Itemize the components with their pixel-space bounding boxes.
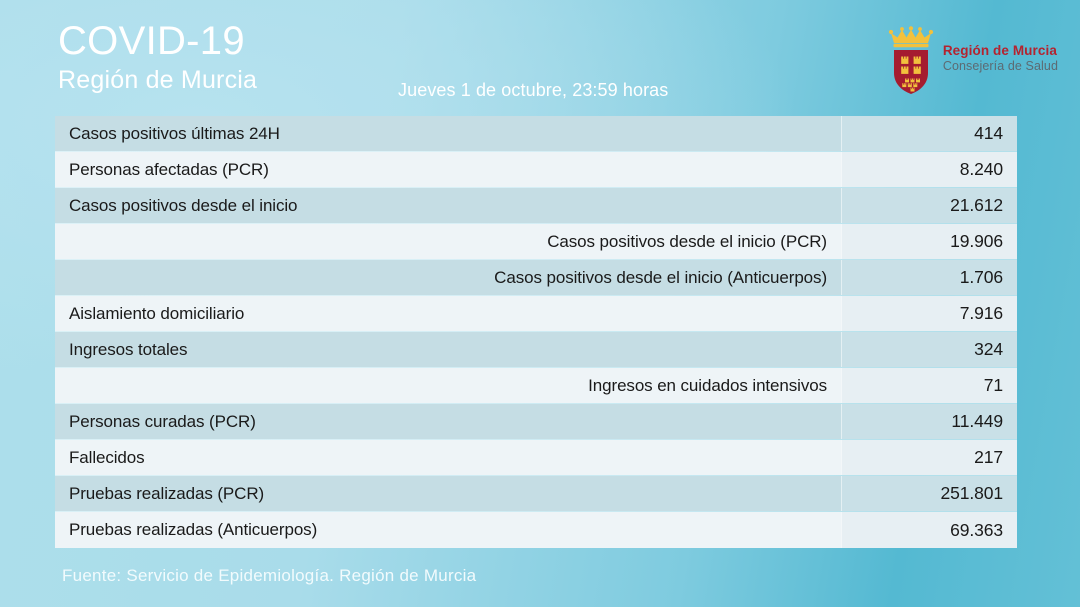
row-value: 11.449 <box>841 404 1017 439</box>
row-value: 7.916 <box>841 296 1017 331</box>
title-block: COVID-19 Región de Murcia <box>58 18 257 95</box>
table-row: Casos positivos desde el inicio21.612 <box>55 188 1017 224</box>
row-label: Personas curadas (PCR) <box>55 404 841 439</box>
table-row: Personas afectadas (PCR)8.240 <box>55 152 1017 188</box>
row-label: Ingresos totales <box>55 332 841 367</box>
row-value: 217 <box>841 440 1017 475</box>
logo-department: Consejería de Salud <box>943 59 1058 74</box>
page-subtitle: Región de Murcia <box>58 65 257 95</box>
row-value: 414 <box>841 116 1017 151</box>
table-row: Pruebas realizadas (Anticuerpos)69.363 <box>55 512 1017 548</box>
logo-organization: Región de Murcia <box>943 43 1058 59</box>
row-value: 1.706 <box>841 260 1017 295</box>
row-value: 251.801 <box>841 476 1017 511</box>
row-value: 19.906 <box>841 224 1017 259</box>
table-row: Casos positivos desde el inicio (PCR)19.… <box>55 224 1017 260</box>
covid-stats-slide: COVID-19 Región de Murcia Jueves 1 de oc… <box>0 0 1080 607</box>
table-row: Casos positivos últimas 24H414 <box>55 116 1017 152</box>
row-label: Pruebas realizadas (Anticuerpos) <box>55 512 841 548</box>
row-label: Aislamiento domiciliario <box>55 296 841 331</box>
row-value: 324 <box>841 332 1017 367</box>
table-row: Fallecidos217 <box>55 440 1017 476</box>
row-value: 69.363 <box>841 512 1017 548</box>
shield-icon <box>888 26 934 96</box>
table-row: Pruebas realizadas (PCR)251.801 <box>55 476 1017 512</box>
row-label: Ingresos en cuidados intensivos <box>55 368 841 403</box>
table-row: Personas curadas (PCR)11.449 <box>55 404 1017 440</box>
row-label: Casos positivos desde el inicio (PCR) <box>55 224 841 259</box>
row-value: 8.240 <box>841 152 1017 187</box>
row-label: Personas afectadas (PCR) <box>55 152 841 187</box>
table-row: Ingresos totales324 <box>55 332 1017 368</box>
row-label: Casos positivos desde el inicio (Anticue… <box>55 260 841 295</box>
row-label: Pruebas realizadas (PCR) <box>55 476 841 511</box>
page-title: COVID-19 <box>58 18 257 64</box>
logo-text: Región de Murcia Consejería de Salud <box>943 43 1058 80</box>
row-label: Fallecidos <box>55 440 841 475</box>
source-footer: Fuente: Servicio de Epidemiología. Regió… <box>62 566 476 586</box>
statistics-table: Casos positivos últimas 24H414Personas a… <box>55 116 1017 548</box>
row-label: Casos positivos desde el inicio <box>55 188 841 223</box>
row-label: Casos positivos últimas 24H <box>55 116 841 151</box>
region-de-murcia-logo: Región de Murcia Consejería de Salud <box>888 24 1058 98</box>
row-value: 21.612 <box>841 188 1017 223</box>
table-row: Casos positivos desde el inicio (Anticue… <box>55 260 1017 296</box>
table-row: Ingresos en cuidados intensivos71 <box>55 368 1017 404</box>
slide-header: COVID-19 Región de Murcia Jueves 1 de oc… <box>0 0 1080 116</box>
table-row: Aislamiento domiciliario7.916 <box>55 296 1017 332</box>
report-date: Jueves 1 de octubre, 23:59 horas <box>398 80 668 101</box>
row-value: 71 <box>841 368 1017 403</box>
